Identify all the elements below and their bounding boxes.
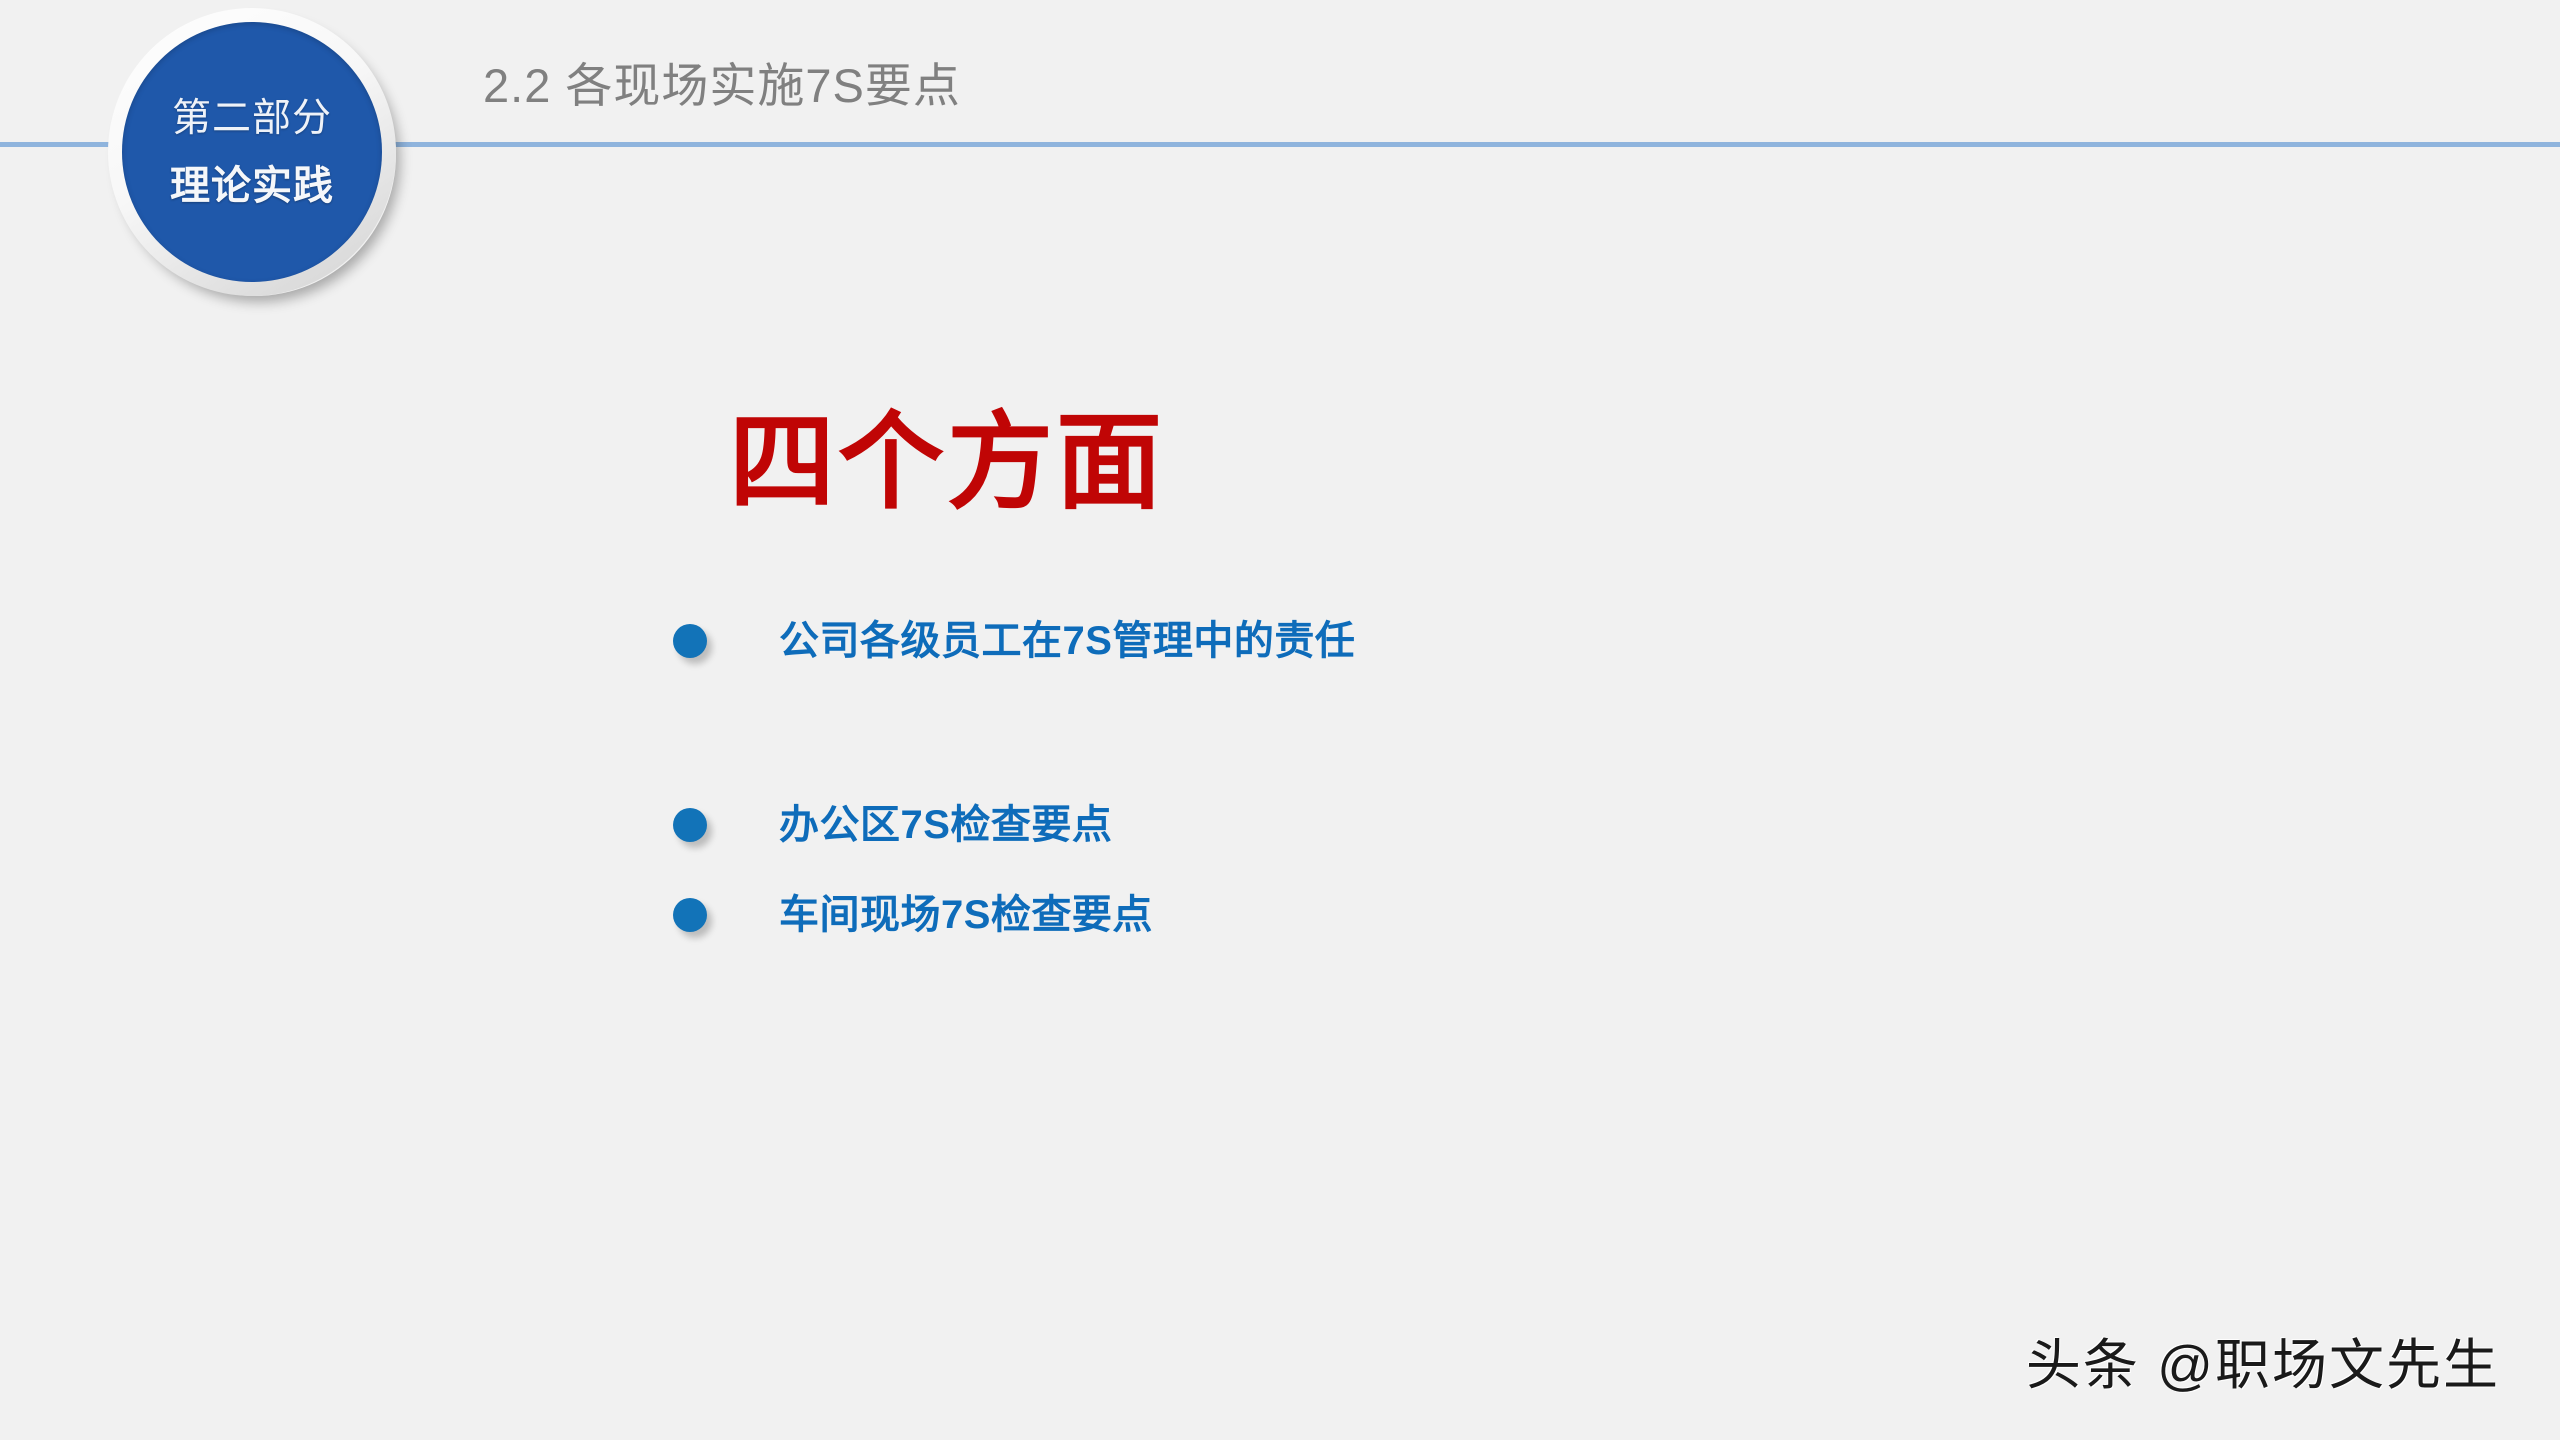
list-item-label: 办公区7S检查要点 [779,805,1112,845]
section-badge-core: 第二部分 理论实践 [122,22,382,282]
page-title: 2.2 各现场实施7S要点 [483,57,961,116]
list-item-label: 公司各级员工在7S管理中的责任 [779,621,1355,661]
watermark: 头条 @职场文先生 [2026,1320,2500,1400]
main-heading: 四个方面 [729,410,1165,516]
section-badge-line-2: 理论实践 [170,166,334,206]
list-item: 公司各级员工在7S管理中的责任 [673,621,1355,661]
bullet-dot-icon [673,624,707,658]
bullet-dot-icon [673,808,707,842]
slide-canvas: 2.2 各现场实施7S要点 第二部分 理论实践 四个方面 公司各级员工在7S管理… [0,0,2560,1440]
list-item-label: 车间现场7S检查要点 [779,895,1153,935]
bullet-dot-icon [673,898,707,932]
section-badge: 第二部分 理论实践 [108,8,396,296]
list-item: 办公区7S检查要点 [673,805,1112,845]
section-badge-line-1: 第二部分 [172,99,332,138]
list-item: 车间现场7S检查要点 [673,895,1153,935]
